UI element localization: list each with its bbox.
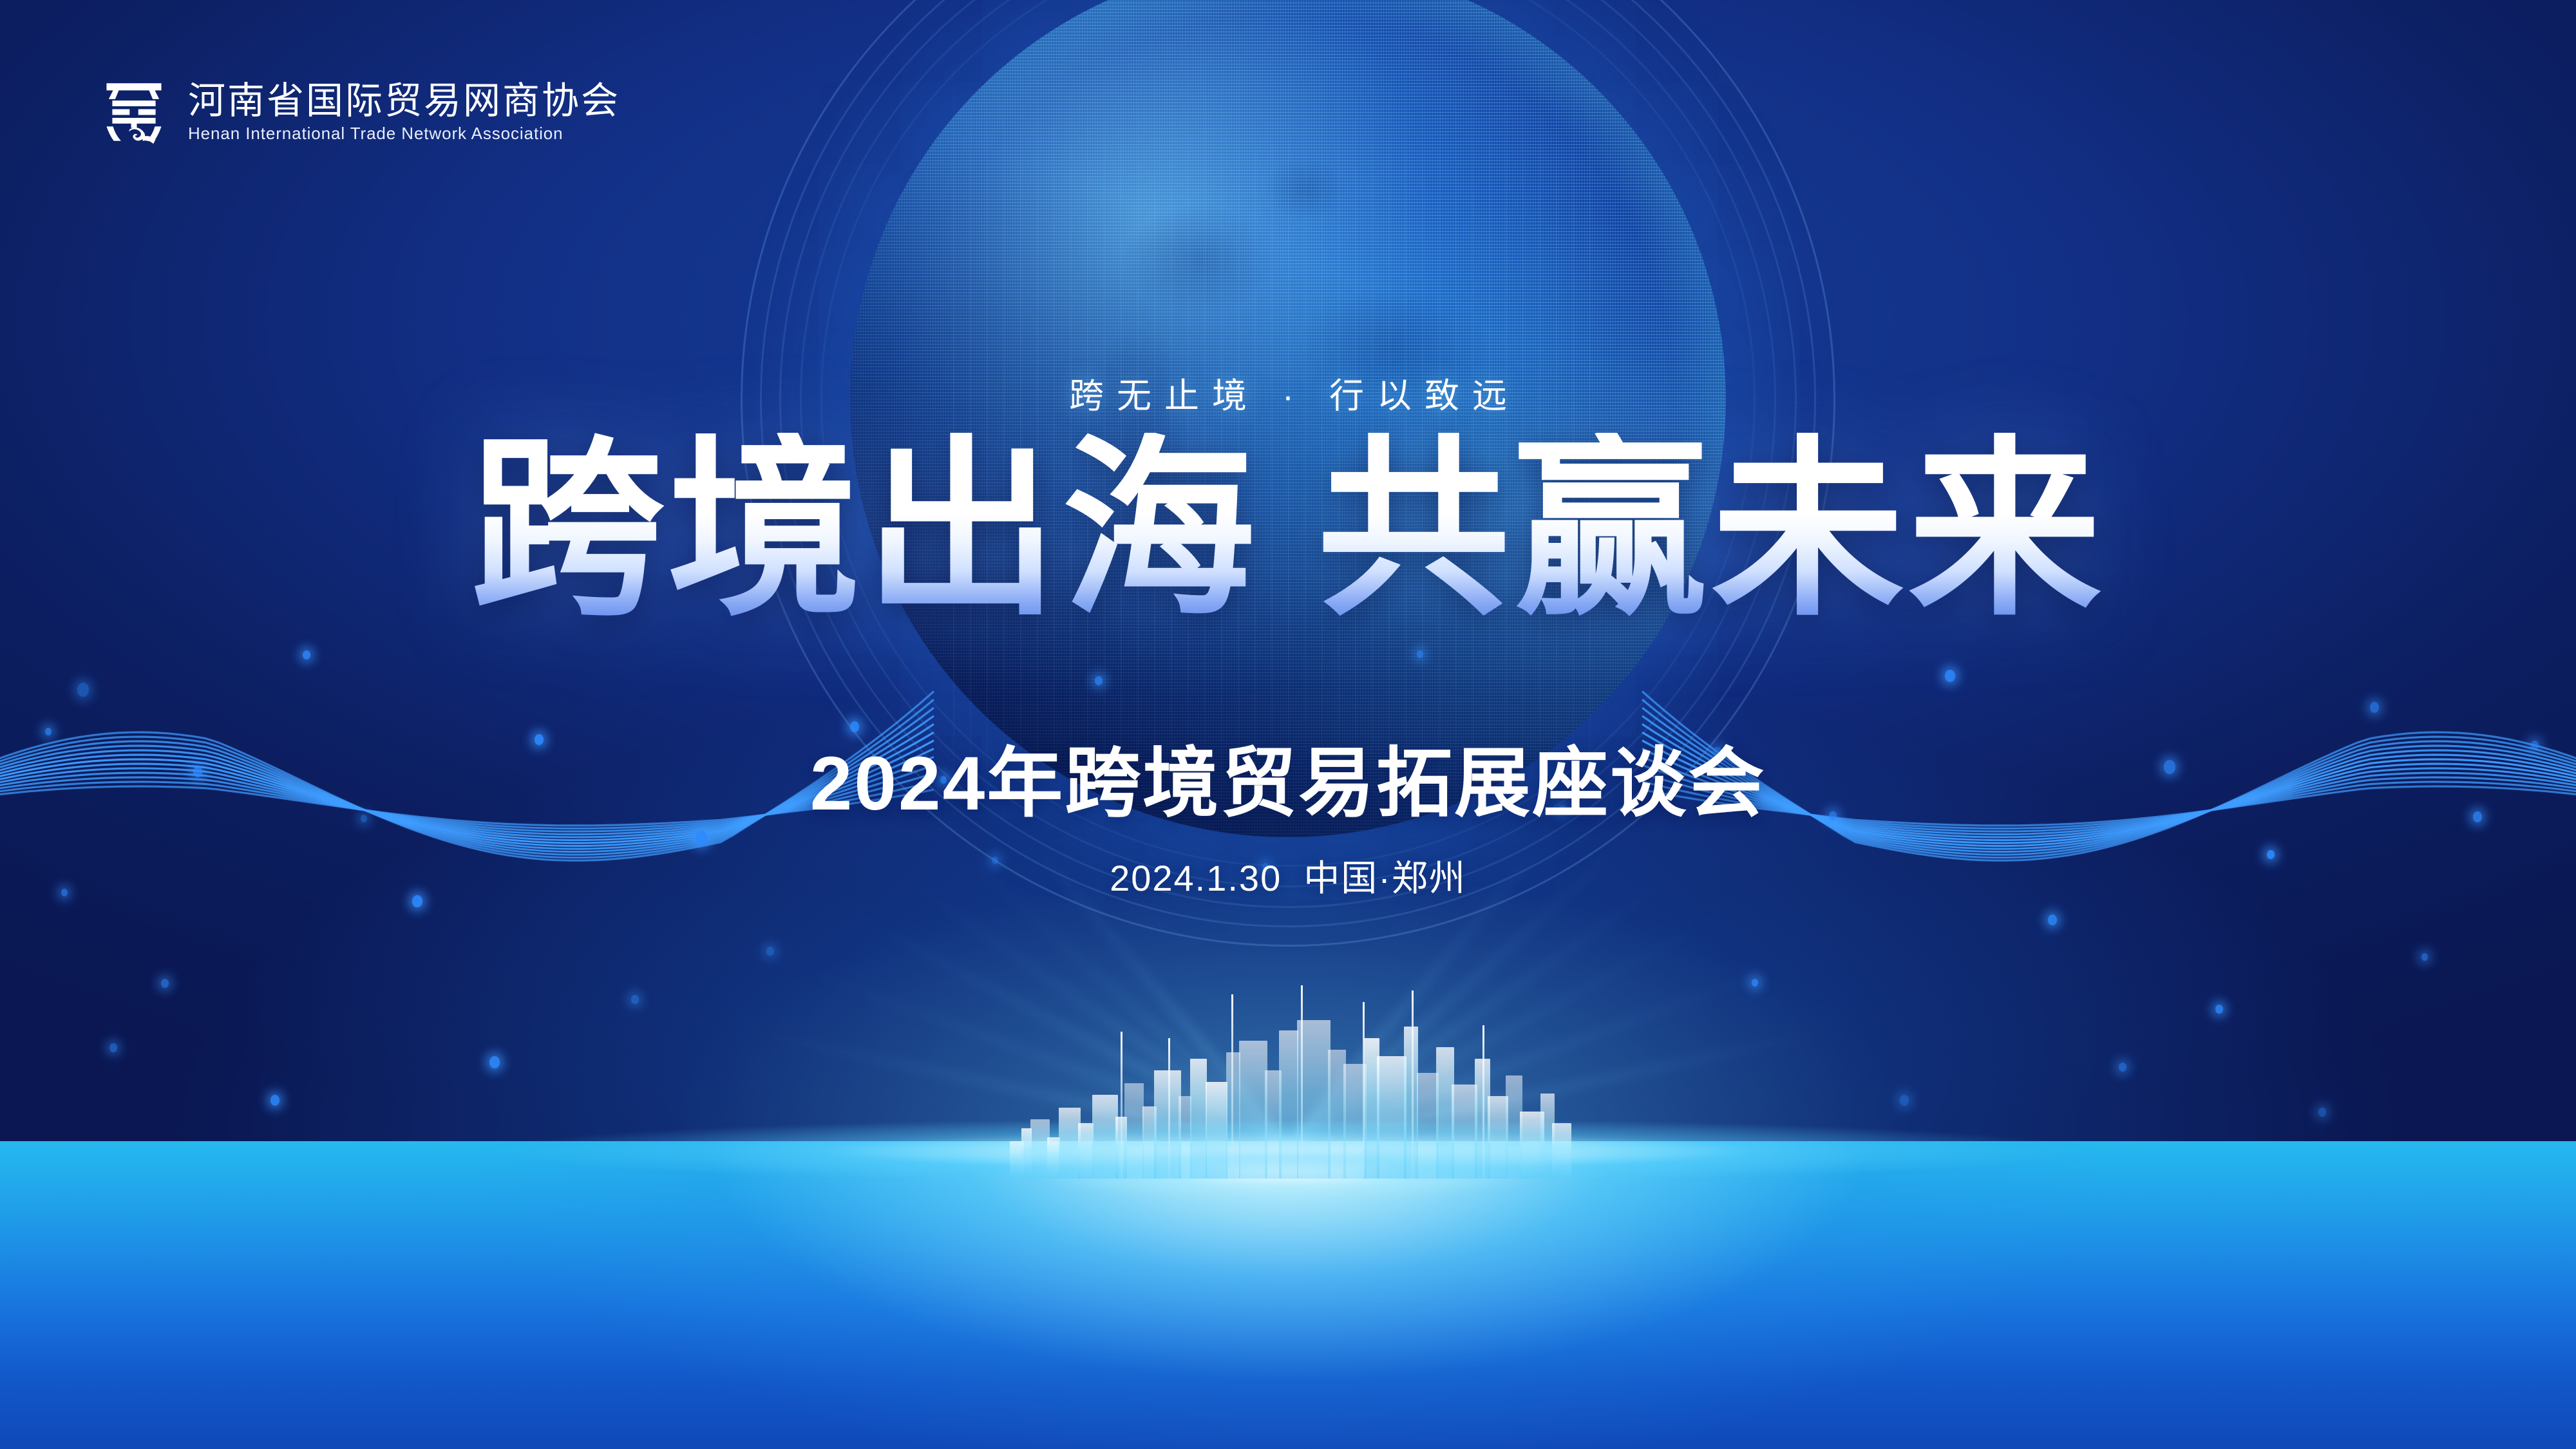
event-subtitle: 2024年跨境贸易拓展座谈会 — [0, 746, 2576, 822]
particle — [1095, 676, 1103, 685]
building — [1452, 1084, 1477, 1179]
antenna-spire — [1231, 994, 1233, 1179]
logo-name-en: Henan International Trade Network Associ… — [188, 124, 620, 143]
particle — [2370, 702, 2379, 713]
building — [1092, 1095, 1118, 1179]
building — [1047, 1137, 1060, 1179]
building — [1226, 1052, 1240, 1179]
event-poster: 河南省国际贸易网商协会 Henan International Trade Ne… — [0, 0, 2576, 1449]
building — [1078, 1123, 1094, 1179]
association-logo: 河南省国际贸易网商协会 Henan International Trade Ne… — [98, 76, 620, 148]
headline-part-1: 跨境出海 — [471, 421, 1259, 638]
particle — [45, 728, 52, 735]
antenna-spire — [1168, 1038, 1170, 1179]
particle — [1945, 670, 1955, 682]
building — [1059, 1108, 1081, 1179]
particle — [303, 650, 310, 659]
building — [1417, 1073, 1439, 1179]
building — [1377, 1056, 1406, 1179]
building — [1179, 1096, 1191, 1179]
antenna-spire — [1121, 1032, 1122, 1179]
building — [1404, 1027, 1418, 1179]
building — [1190, 1059, 1207, 1179]
building — [1154, 1070, 1181, 1179]
page-title: 跨境出海共赢未来 — [0, 433, 2576, 626]
antenna-spire — [1412, 990, 1414, 1179]
particle — [77, 683, 89, 697]
event-location: 中国·郑州 — [1303, 858, 1466, 898]
henan-seal-emblem-icon — [98, 76, 170, 148]
city-skyline-icon — [1005, 1011, 1571, 1179]
antenna-spire — [1363, 1002, 1365, 1179]
event-date: 2024.1.30 — [1110, 858, 1282, 898]
tagline: 跨无止境 · 行以致远 — [0, 367, 2576, 418]
building — [1552, 1123, 1571, 1179]
building — [1206, 1082, 1227, 1179]
particle — [535, 734, 544, 745]
headline-part-2: 共赢未来 — [1317, 421, 2105, 638]
building — [1239, 1041, 1267, 1179]
particle — [850, 721, 859, 732]
event-date-location: 2024.1.30中国·郑州 — [0, 860, 2576, 896]
logo-name-cn: 河南省国际贸易网商协会 — [188, 81, 620, 122]
building — [1279, 1030, 1298, 1179]
particle — [1417, 650, 1423, 658]
antenna-spire — [1482, 1025, 1484, 1179]
antenna-spire — [1301, 985, 1303, 1179]
building — [1124, 1083, 1144, 1179]
particle — [696, 831, 707, 845]
